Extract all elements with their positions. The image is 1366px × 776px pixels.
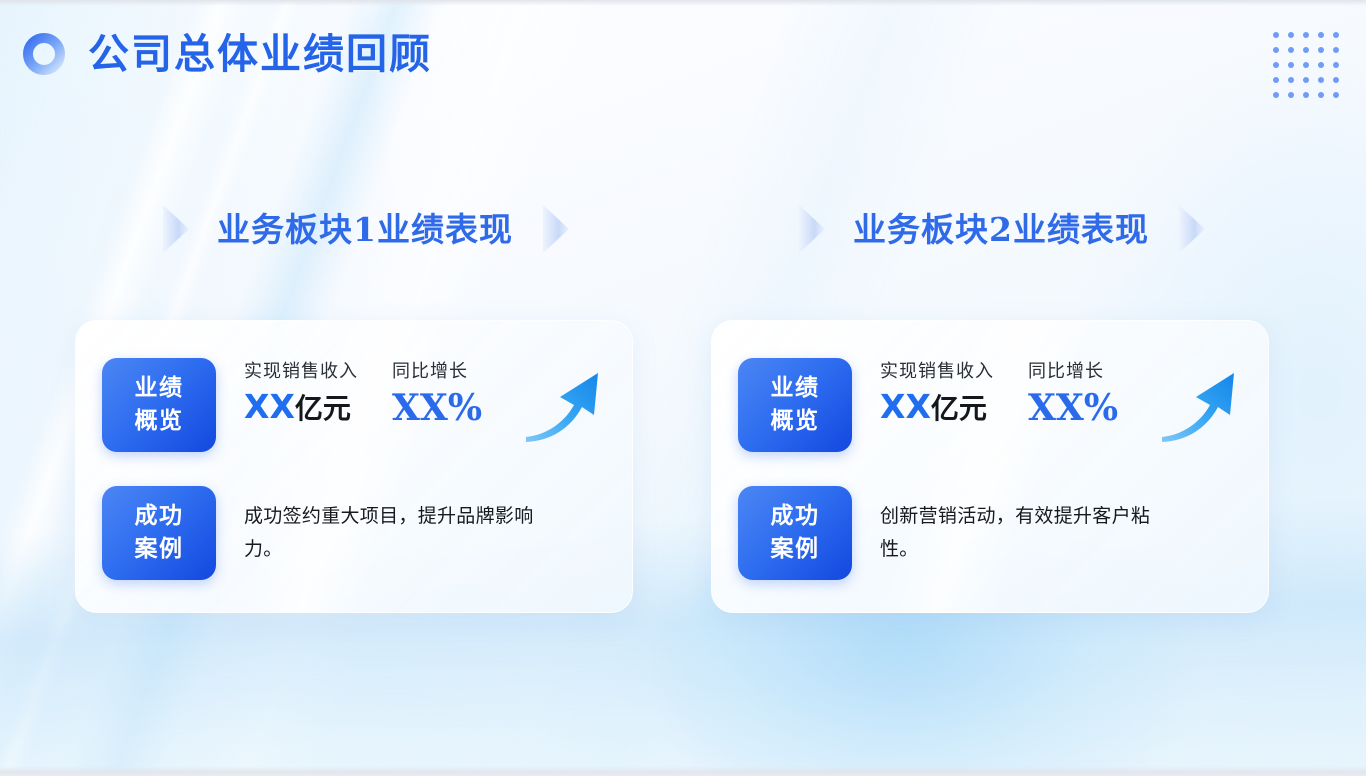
chevron-right-icon	[1175, 203, 1207, 255]
growth-arrow-icon	[516, 357, 612, 454]
section-column-1: 业务板块1业绩表现 业绩 概览 实现销售收入 XX	[75, 190, 655, 613]
success-case-badge: 成功 案例	[102, 486, 216, 580]
section-title: 业务板块2业绩表现	[853, 213, 1149, 246]
metric-label: 实现销售收入	[244, 357, 358, 383]
performance-overview-row: 业绩 概览 实现销售收入 XX亿元 同比增长 XX%	[102, 345, 606, 465]
metric-value: XX亿元	[244, 389, 358, 425]
metric-label: 实现销售收入	[880, 357, 994, 383]
chevron-right-icon	[539, 203, 571, 255]
metrics-group: 实现销售收入 XX亿元 同比增长 XX%	[880, 357, 1248, 454]
performance-overview-row: 业绩 概览 实现销售收入 XX亿元 同比增长 XX%	[738, 345, 1242, 465]
metric-revenue: 实现销售收入 XX亿元	[244, 357, 358, 425]
badge-line-1: 业绩	[135, 372, 184, 405]
badge-line-1: 成功	[135, 500, 184, 533]
success-case-badge: 成功 案例	[738, 486, 852, 580]
badge-line-2: 案例	[135, 533, 184, 566]
slide-bottom-edge	[0, 766, 1366, 776]
growth-arrow-icon	[1152, 357, 1248, 454]
chevron-right-icon	[795, 203, 827, 255]
page-title: 公司总体业绩回顾	[88, 34, 432, 75]
section-column-2: 业务板块2业绩表现 业绩 概览 实现销售收入 XX	[711, 190, 1291, 613]
chevron-right-icon	[159, 203, 191, 255]
dot-grid-icon	[1273, 32, 1342, 101]
badge-line-2: 案例	[771, 533, 820, 566]
performance-card-2: 业绩 概览 实现销售收入 XX亿元 同比增长 XX%	[711, 320, 1269, 613]
badge-line-2: 概览	[135, 405, 184, 438]
badge-line-1: 业绩	[771, 372, 820, 405]
metric-number: XX	[244, 387, 295, 426]
badge-line-2: 概览	[771, 405, 820, 438]
success-case-text: 成功签约重大项目，提升品牌影响力。	[244, 500, 534, 567]
section-header-2: 业务板块2业绩表现	[711, 190, 1291, 268]
metric-label: 同比增长	[392, 357, 482, 383]
metric-unit: 亿元	[295, 392, 351, 425]
metric-label: 同比增长	[1028, 357, 1118, 383]
slide-header: 公司总体业绩回顾	[22, 32, 432, 76]
metrics-group: 实现销售收入 XX亿元 同比增长 XX%	[244, 357, 612, 454]
metric-unit: 亿元	[931, 392, 987, 425]
slide-top-edge	[0, 0, 1366, 6]
sections-container: 业务板块1业绩表现 业绩 概览 实现销售收入 XX	[0, 190, 1366, 613]
metric-number: XX	[880, 387, 931, 426]
metric-value: XX亿元	[880, 389, 994, 425]
section-header-1: 业务板块1业绩表现	[75, 190, 655, 268]
slide-canvas: 公司总体业绩回顾	[0, 0, 1366, 776]
section-title: 业务板块1业绩表现	[217, 213, 513, 246]
metric-revenue: 实现销售收入 XX亿元	[880, 357, 994, 425]
performance-overview-badge: 业绩 概览	[738, 358, 852, 452]
metric-value: XX%	[1028, 389, 1118, 429]
success-case-row: 成功 案例 创新营销活动，有效提升客户粘性。	[738, 483, 1242, 583]
badge-line-1: 成功	[771, 500, 820, 533]
metric-value: XX%	[392, 389, 482, 429]
metric-growth: 同比增长 XX%	[392, 357, 482, 429]
success-case-row: 成功 案例 成功签约重大项目，提升品牌影响力。	[102, 483, 606, 583]
performance-card-1: 业绩 概览 实现销售收入 XX亿元 同比增长 XX%	[75, 320, 633, 613]
metric-growth: 同比增长 XX%	[1028, 357, 1118, 429]
ring-icon	[22, 32, 66, 76]
performance-overview-badge: 业绩 概览	[102, 358, 216, 452]
success-case-text: 创新营销活动，有效提升客户粘性。	[880, 500, 1170, 567]
